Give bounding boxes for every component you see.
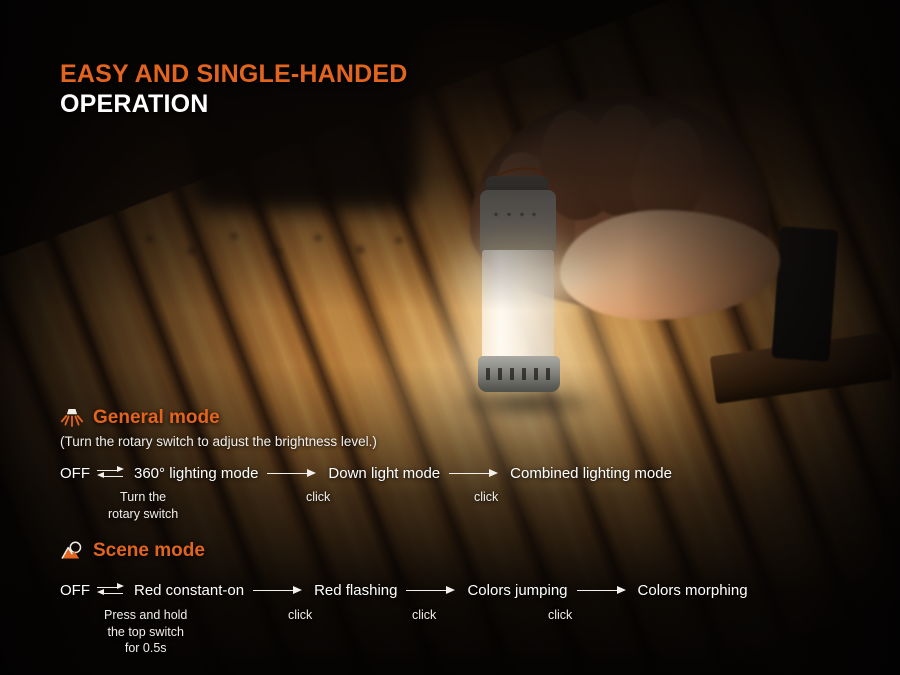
arrow-right-icon [406,584,458,598]
scene-caption-click-2: click [412,607,436,624]
bidirectional-arrow-icon [97,466,127,482]
general-caption-turn-rotary: Turn the rotary switch [108,489,178,522]
scene-step-colors-jumping: Colors jumping [467,582,567,599]
general-caption-click-2: click [474,489,498,506]
text-overlay: EASY AND SINGLE-HANDED OPERATION [0,0,900,675]
scene-caption-click-3: click [548,607,572,624]
scene-step-red-constant-on: Red constant-on [134,582,244,599]
section-general-mode: General mode (Turn the rotary switch to … [60,405,672,535]
headline-line-1: EASY AND SINGLE-HANDED [60,60,408,90]
general-step-down-light: Down light mode [328,465,440,482]
general-mode-header: General mode [60,405,672,431]
scene-step-colors-morphing: Colors morphing [638,582,748,599]
mountain-scene-icon [60,539,84,563]
scene-caption-click-1: click [288,607,312,624]
general-step-360: 360° lighting mode [134,465,258,482]
scene-step-off: OFF [60,582,90,599]
general-caption-click-1: click [306,489,330,506]
general-mode-flow: OFF 360° lighting mode Down light mode C… [60,465,672,482]
headline-line-2: OPERATION [60,90,408,120]
section-scene-mode: Scene mode OFF Red constant-on Red flash… [60,538,748,653]
general-mode-captions: Turn the rotary switch click click [60,489,672,535]
arrow-right-icon [253,584,305,598]
lamp-rays-icon [60,406,84,430]
scene-caption-press-hold: Press and hold the top switch for 0.5s [104,607,187,657]
general-step-off: OFF [60,465,90,482]
general-mode-note: (Turn the rotary switch to adjust the br… [60,434,672,449]
arrow-right-icon [267,467,319,481]
arrow-right-icon [577,584,629,598]
general-mode-title: General mode [93,407,220,429]
scene-mode-captions: Press and hold the top switch for 0.5s c… [60,607,748,653]
general-step-combined: Combined lighting mode [510,465,672,482]
arrow-right-icon [449,467,501,481]
scene-mode-flow: OFF Red constant-on Red flashing Colors … [60,582,748,599]
scene-step-red-flashing: Red flashing [314,582,397,599]
page-title: EASY AND SINGLE-HANDED OPERATION [60,60,408,119]
scene-mode-header: Scene mode [60,538,748,564]
scene-mode-title: Scene mode [93,540,205,562]
bidirectional-arrow-icon [97,583,127,599]
product-infographic-page: EASY AND SINGLE-HANDED OPERATION [0,0,900,675]
